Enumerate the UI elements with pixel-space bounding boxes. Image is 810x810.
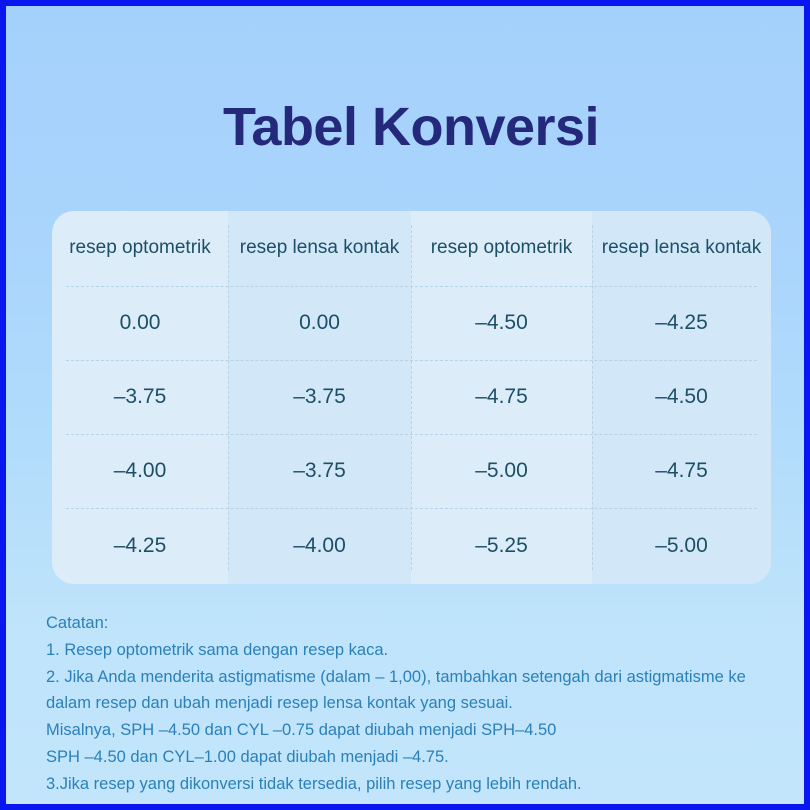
table-cell: –4.00 xyxy=(52,434,228,508)
table-header-cell: resep lensa kontak xyxy=(228,211,411,286)
notes-line: 1. Resep optometrik sama dengan resep ka… xyxy=(46,637,782,663)
page-title: Tabel Konversi xyxy=(6,98,810,157)
table-header-cell: resep lensa kontak xyxy=(592,211,771,286)
table-cell: –5.25 xyxy=(411,508,592,584)
table-cell: –4.50 xyxy=(411,286,592,360)
table-cell: –5.00 xyxy=(592,508,771,584)
table-header-cell: resep optometrik xyxy=(52,211,228,286)
table-cell: –4.75 xyxy=(411,360,592,434)
table-cell: –3.75 xyxy=(228,360,411,434)
table-cell: –4.50 xyxy=(592,360,771,434)
table-cell: –4.75 xyxy=(592,434,771,508)
table-header-cell: resep optometrik xyxy=(411,211,592,286)
notes-section: Catatan: 1. Resep optometrik sama dengan… xyxy=(46,610,782,798)
table-cell: –4.25 xyxy=(592,286,771,360)
conversion-table-grid: resep optometrik resep lensa kontak rese… xyxy=(52,211,771,584)
table-cell: 0.00 xyxy=(228,286,411,360)
notes-line: SPH –4.50 dan CYL–1.00 dapat diubah menj… xyxy=(46,744,782,770)
conversion-table-card: resep optometrik resep lensa kontak rese… xyxy=(52,211,771,584)
table-cell: –4.25 xyxy=(52,508,228,584)
notes-line: Misalnya, SPH –4.50 dan CYL –0.75 dapat … xyxy=(46,717,782,743)
notes-line: Catatan: xyxy=(46,610,782,636)
table-cell: –3.75 xyxy=(228,434,411,508)
table-cell: –5.00 xyxy=(411,434,592,508)
table-cell: –4.00 xyxy=(228,508,411,584)
notes-line: 2. Jika Anda menderita astigmatisme (dal… xyxy=(46,664,782,716)
notes-line: 3.Jika resep yang dikonversi tidak terse… xyxy=(46,771,782,797)
poster-canvas: Tabel Konversi resep optometrik resep le… xyxy=(0,0,810,810)
table-cell: 0.00 xyxy=(52,286,228,360)
table-cell: –3.75 xyxy=(52,360,228,434)
